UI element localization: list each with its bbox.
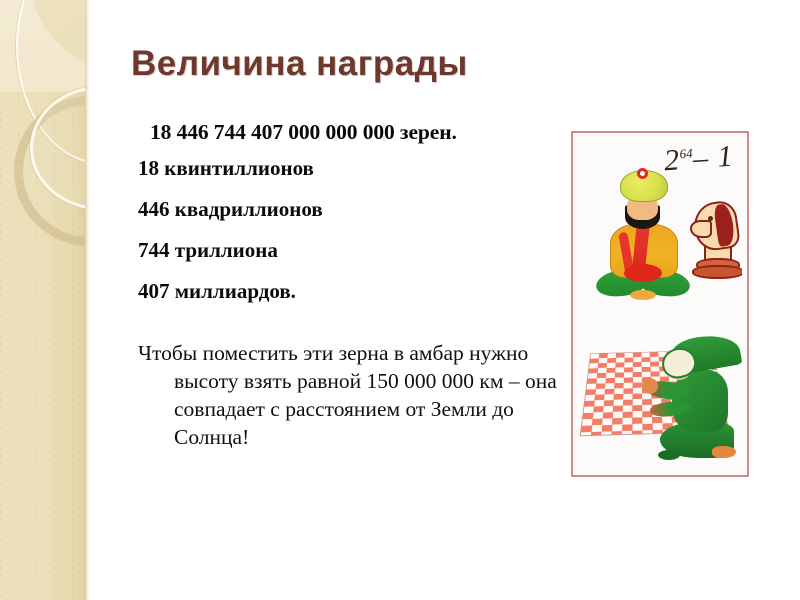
list-item: 744 триллиона <box>138 238 556 263</box>
formula-tail: – 1 <box>692 140 735 176</box>
grain-total-line: 18 446 744 407 000 000 000 зерен. <box>150 120 556 145</box>
raja-turban-jewel <box>637 168 648 179</box>
raja-foot <box>630 290 656 300</box>
chess-knight-piece <box>690 200 742 278</box>
knight-muzzle <box>690 220 712 238</box>
knight-eye <box>708 216 713 221</box>
side-band-edge <box>85 0 90 600</box>
raja-lap-cloth <box>624 264 662 282</box>
content-text-block: 18 446 744 407 000 000 000 зерен. 18 кви… <box>136 120 556 452</box>
sage-shoe-front <box>712 446 736 458</box>
illustration-canvas: 264– 1 <box>578 138 742 470</box>
sage-shoe-back <box>658 450 680 460</box>
list-item: 446 квадриллионов <box>138 197 556 222</box>
list-item: 407 миллиардов. <box>138 279 556 304</box>
decorative-side-band <box>0 0 90 600</box>
chessboard-grain-marks <box>585 366 607 422</box>
kneeling-sage-figure <box>650 334 742 466</box>
seated-raja-figure <box>594 166 692 306</box>
page-title: Величина награды <box>131 44 468 84</box>
list-item: 18 квинтиллионов <box>138 156 556 181</box>
illustration-frame: 264– 1 <box>571 131 749 477</box>
knight-base-lower <box>692 265 742 279</box>
closing-paragraph: Чтобы поместить эти зерна в амбар нужно … <box>138 340 594 452</box>
formula-exponent: 64 <box>679 145 693 161</box>
sage-hand <box>642 378 658 394</box>
